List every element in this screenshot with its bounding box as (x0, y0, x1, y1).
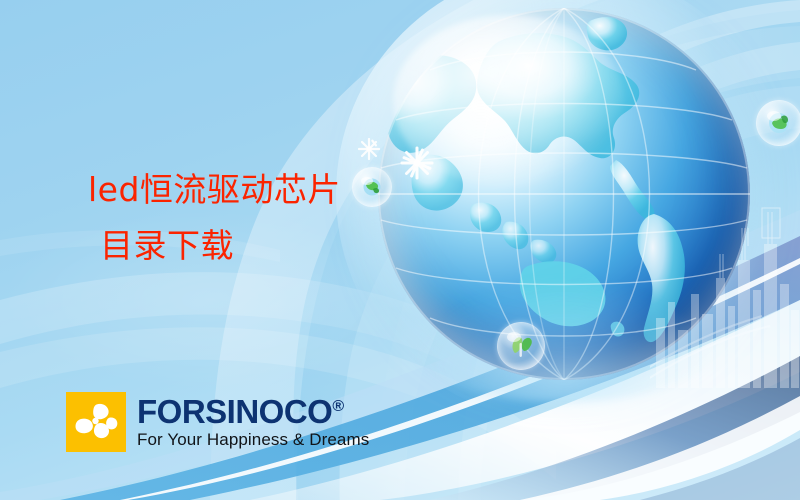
registered-trademark-icon: ® (332, 398, 344, 415)
flower-petal-icon (66, 392, 126, 452)
headline-line-2: 目录下载 (88, 218, 341, 274)
logo-name-word: FORSINOCO (137, 393, 332, 430)
headline-line-1: led恒流驱动芯片 (88, 170, 341, 209)
bubble-leaf (497, 322, 545, 370)
logo-company-name: FORSINOCO® (137, 395, 369, 429)
snowflake-large (400, 146, 434, 180)
mini-globe-icon (353, 168, 391, 206)
company-logo: FORSINOCO® For Your Happiness & Dreams (66, 392, 369, 452)
mini-globe-icon (757, 101, 800, 145)
city-skyline-silhouette (650, 198, 800, 388)
green-leaf-icon (498, 323, 544, 369)
headline-text: led恒流驱动芯片 目录下载 (88, 162, 341, 274)
logo-text-block: FORSINOCO® For Your Happiness & Dreams (137, 395, 369, 450)
bubble-globe (352, 167, 392, 207)
promo-banner: led恒流驱动芯片 目录下载 FORSINOCO® For Your Happi… (0, 0, 800, 500)
bubble-edge (756, 100, 800, 146)
logo-tagline: For Your Happiness & Dreams (137, 430, 369, 450)
logo-mark-square (66, 392, 126, 452)
snowflake-small (358, 138, 380, 160)
